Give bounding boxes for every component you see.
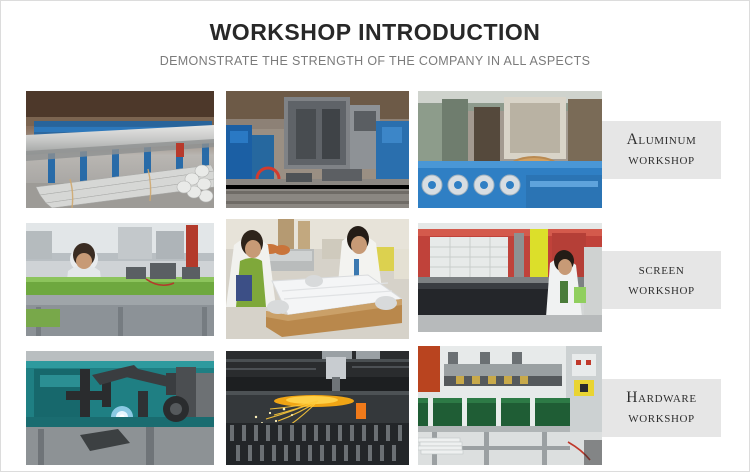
factory-photo-laser-cutting-sparks [226,351,409,465]
factory-photo-aluminum-profiles [26,91,214,208]
gallery-tile-r2c1[interactable] [26,223,214,336]
gallery-tile-r1c3[interactable] [418,91,602,208]
workshop-label-line2: workshop [628,408,695,428]
factory-photo-robotic-welding [26,351,214,465]
workshop-label-line2: workshop [628,280,695,300]
gallery-tile-r2c2[interactable] [226,219,409,339]
workshop-label-line1: Hardware [626,388,696,408]
gallery-tile-r1c2[interactable] [226,91,409,208]
gallery-tile-r3c3[interactable] [418,346,602,465]
factory-photo-anodizing-coils [418,91,602,208]
gallery-tile-r3c1[interactable] [26,351,214,465]
workshop-label-line1: Aluminum [627,130,697,150]
factory-photo-mesh-rolling-machine [418,223,602,332]
gallery-tile-r3c2[interactable] [226,351,409,465]
workshop-introduction-page: WORKSHOP INTRODUCTION DEMONSTRATE THE ST… [0,0,750,472]
factory-photo-extrusion-press [226,91,409,208]
workshop-label-screen: screen workshop [602,251,721,309]
workshop-label-hardware: Hardware workshop [602,379,721,437]
factory-photo-packing-panel [226,219,409,339]
factory-photo-assembly-bench [26,223,214,336]
factory-photo-conveyor-press [418,346,602,465]
workshop-label-line2: workshop [628,150,695,170]
workshop-photo-gallery: Aluminum workshop [1,1,749,471]
gallery-tile-r2c3[interactable] [418,223,602,332]
workshop-label-line1: screen [639,260,685,280]
gallery-tile-r1c1[interactable] [26,91,214,208]
workshop-label-aluminum: Aluminum workshop [602,121,721,179]
